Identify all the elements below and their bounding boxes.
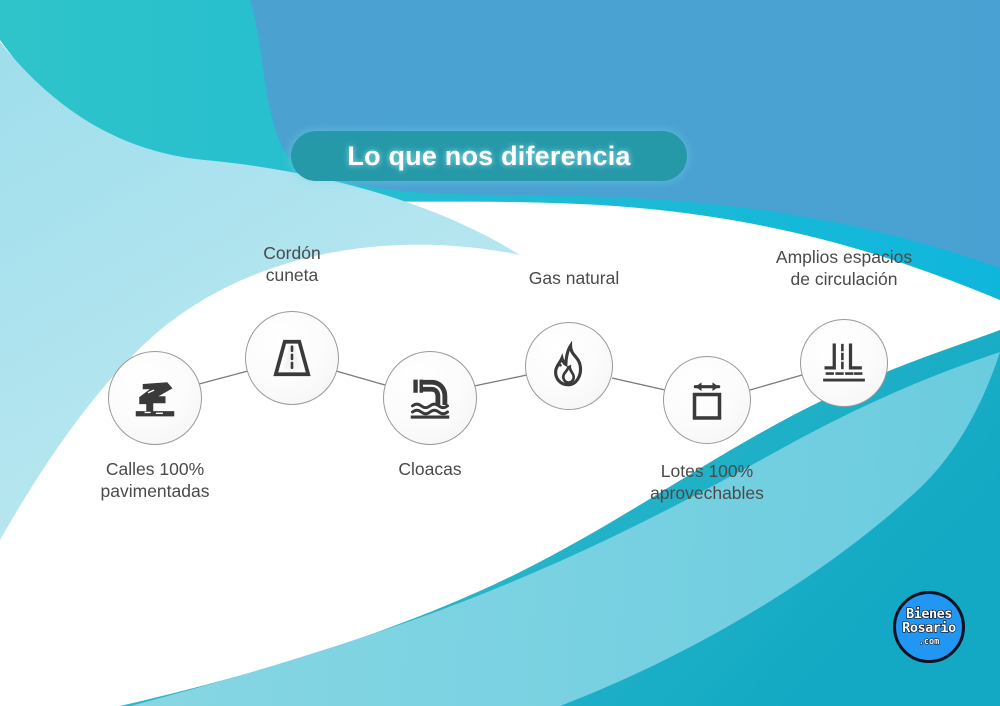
sewer-pipe-water-icon — [402, 370, 458, 426]
flame-icon — [544, 341, 594, 391]
feature-label-cloacas: Cloacas — [310, 458, 550, 480]
winding-road-icon — [127, 370, 183, 426]
logo-line-3: .com — [919, 638, 939, 647]
icon-circle-lotes[interactable] — [663, 356, 751, 444]
feature-label-cordon-cuneta: Cordón cuneta — [172, 242, 412, 287]
feature-label-gas-natural: Gas natural — [454, 267, 694, 289]
infographic-canvas: Lo que nos diferencia Calles 100% pavime… — [0, 0, 1000, 706]
icon-circle-gas-natural[interactable] — [525, 322, 613, 410]
feature-label-lotes: Lotes 100% aprovechables — [587, 460, 827, 505]
brand-logo[interactable]: Bienes Rosario .com — [893, 591, 965, 663]
icon-circle-cordon-cuneta[interactable] — [245, 311, 339, 405]
page-title: Lo que nos diferencia — [347, 141, 630, 172]
street-intersection-icon — [818, 337, 870, 389]
logo-line-2: Rosario — [902, 622, 955, 636]
lot-width-arrow-icon — [682, 375, 732, 425]
icon-circle-cloacas[interactable] — [383, 351, 477, 445]
feature-label-espacios-circulacion: Amplios espacios de circulación — [724, 246, 964, 291]
road-perspective-icon — [266, 332, 318, 384]
icon-circle-espacios-circulacion[interactable] — [800, 319, 888, 407]
title-pill: Lo que nos diferencia — [291, 131, 687, 181]
icon-circle-calles[interactable] — [108, 351, 202, 445]
feature-label-calles: Calles 100% pavimentadas — [35, 458, 275, 503]
